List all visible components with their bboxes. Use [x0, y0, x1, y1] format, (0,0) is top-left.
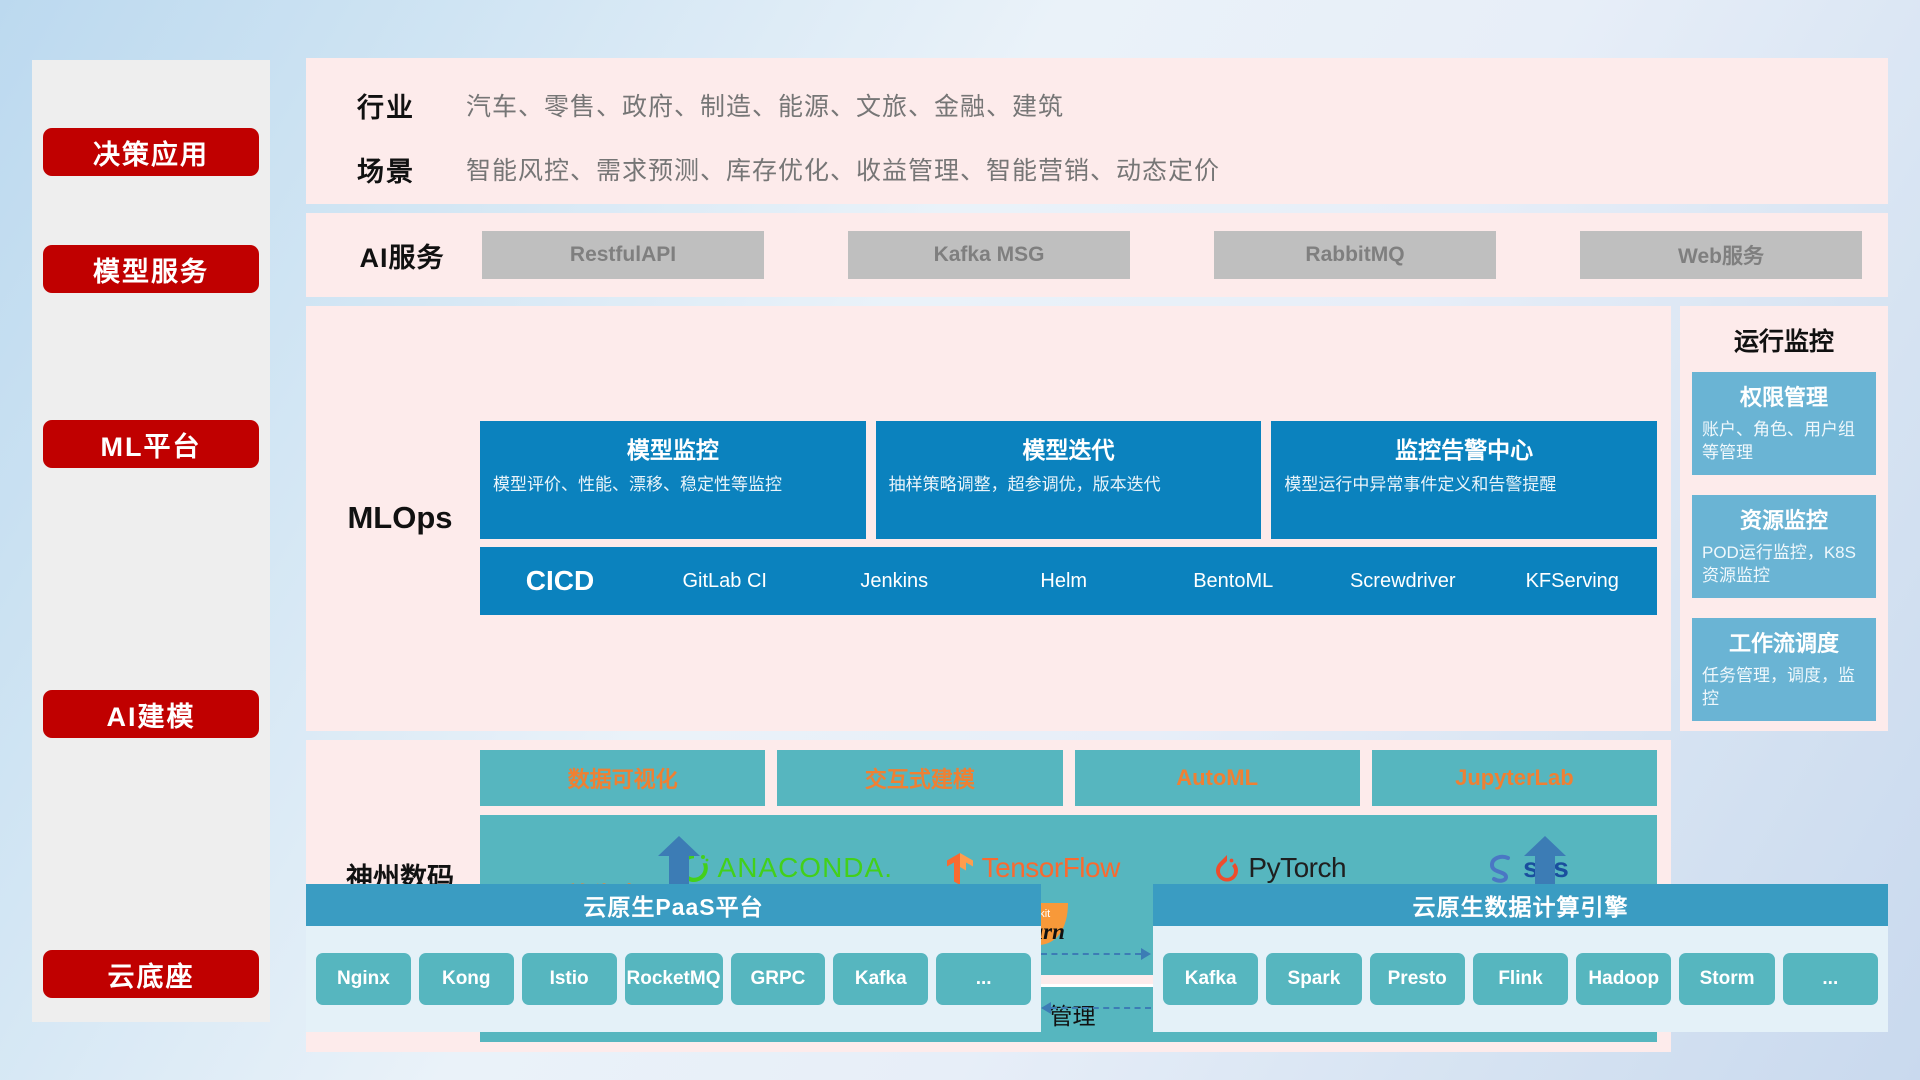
tool-jupyterlab[interactable]: JupyterLab: [1372, 750, 1657, 806]
data-engine-chip-list: Kafka Spark Presto Flink Hadoop Storm ..…: [1153, 926, 1888, 1032]
industry-label: 行业: [306, 86, 466, 125]
paas-chip-istio[interactable]: Istio: [522, 953, 617, 1005]
card-desc: 账户、角色、用户组等管理: [1702, 418, 1866, 465]
scenario-label: 场景: [306, 150, 466, 189]
paas-chip-more[interactable]: ...: [936, 953, 1031, 1005]
service-kafka-msg[interactable]: Kafka MSG: [848, 231, 1130, 279]
cicd-item-bentoml[interactable]: BentoML: [1149, 571, 1319, 592]
paas-chip-kong[interactable]: Kong: [419, 953, 514, 1005]
up-arrow-paas: [658, 836, 700, 884]
paas-chip-grpc[interactable]: GRPC: [731, 953, 826, 1005]
mlops-card-alert-center[interactable]: 监控告警中心 模型运行中异常事件定义和告警提醒: [1271, 421, 1657, 539]
engine-chip-presto[interactable]: Presto: [1370, 953, 1465, 1005]
data-engine-title: 云原生数据计算引擎: [1153, 884, 1888, 926]
card-desc: 模型评价、性能、漂移、稳定性等监控: [493, 473, 853, 497]
cloud-native-paas-panel: 云原生PaaS平台 Nginx Kong Istio RocketMQ GRPC…: [306, 884, 1041, 1032]
engine-chip-flink[interactable]: Flink: [1473, 953, 1568, 1005]
card-desc: 任务管理，调度，监控: [1702, 664, 1866, 711]
tool-interactive-modeling[interactable]: 交互式建模: [777, 750, 1062, 806]
engine-chip-spark[interactable]: Spark: [1266, 953, 1361, 1005]
runtime-monitoring-title: 运行监控: [1692, 322, 1876, 358]
tool-data-visualization[interactable]: 数据可视化: [480, 750, 765, 806]
cicd-item-helm[interactable]: Helm: [979, 571, 1149, 592]
up-arrow-data-engine: [1524, 836, 1566, 884]
rail-chip-model-service[interactable]: 模型服务: [43, 245, 259, 293]
tensorflow-wordmark: TensorFlow: [982, 852, 1120, 884]
engine-chip-more[interactable]: ...: [1783, 953, 1878, 1005]
ai-service-list: RestfulAPI Kafka MSG RabbitMQ Web服务: [482, 231, 1872, 279]
rail-chip-cloud-base[interactable]: 云底座: [43, 950, 259, 998]
cloud-base-section: 云原生PaaS平台 Nginx Kong Istio RocketMQ GRPC…: [306, 884, 1888, 1032]
card-title: 权限管理: [1702, 380, 1866, 412]
mlops-card-model-iteration[interactable]: 模型迭代 抽样策略调整，超参调优，版本迭代: [876, 421, 1262, 539]
logo-pytorch: PyTorch: [1213, 852, 1346, 884]
tensorflow-icon: [945, 851, 975, 885]
ai-service-band: AI服务 RestfulAPI Kafka MSG RabbitMQ Web服务: [306, 213, 1888, 297]
rail-chip-ml-platform[interactable]: ML平台: [43, 420, 259, 468]
cicd-item-screwdriver[interactable]: Screwdriver: [1318, 571, 1488, 592]
service-rabbitmq[interactable]: RabbitMQ: [1214, 231, 1496, 279]
paas-chip-list: Nginx Kong Istio RocketMQ GRPC Kafka ...: [306, 926, 1041, 1032]
card-title: 监控告警中心: [1284, 431, 1644, 465]
engine-chip-storm[interactable]: Storm: [1679, 953, 1774, 1005]
scenario-row: 场景 智能风控、需求预测、库存优化、收益管理、智能营销、动态定价: [306, 144, 1888, 194]
card-desc: POD运行监控，K8S资源监控: [1702, 541, 1866, 588]
cloud-native-data-engine-panel: 云原生数据计算引擎 Kafka Spark Presto Flink Hadoo…: [1153, 884, 1888, 1032]
paas-chip-rocketmq[interactable]: RocketMQ: [625, 953, 723, 1005]
card-desc: 模型运行中异常事件定义和告警提醒: [1284, 473, 1644, 497]
monitor-card-permission[interactable]: 权限管理 账户、角色、用户组等管理: [1692, 372, 1876, 475]
industry-row: 行业 汽车、零售、政府、制造、能源、文旅、金融、建筑: [306, 80, 1888, 130]
card-title: 模型迭代: [889, 431, 1249, 465]
cicd-item-kfserving[interactable]: KFServing: [1488, 571, 1658, 592]
tool-automl[interactable]: AutoML: [1075, 750, 1360, 806]
rail-chip-ai-modeling[interactable]: AI建模: [43, 690, 259, 738]
engine-chip-kafka[interactable]: Kafka: [1163, 953, 1258, 1005]
modeling-tool-list: 数据可视化 交互式建模 AutoML JupyterLab: [480, 750, 1657, 806]
logo-anaconda: ANACONDA.: [677, 851, 893, 885]
pytorch-wordmark: PyTorch: [1248, 852, 1346, 884]
engine-chip-hadoop[interactable]: Hadoop: [1576, 953, 1671, 1005]
logo-tensorflow: TensorFlow: [945, 851, 1120, 885]
monitor-card-resource[interactable]: 资源监控 POD运行监控，K8S资源监控: [1692, 495, 1876, 598]
anaconda-wordmark: ANACONDA.: [718, 852, 893, 884]
cicd-label: CICD: [480, 565, 640, 597]
paas-chip-kafka[interactable]: Kafka: [833, 953, 928, 1005]
runtime-monitoring-panel: 运行监控 权限管理 账户、角色、用户组等管理 资源监控 POD运行监控，K8S资…: [1680, 306, 1888, 731]
ai-service-label: AI服务: [322, 236, 482, 275]
monitor-card-workflow[interactable]: 工作流调度 任务管理，调度，监控: [1692, 618, 1876, 721]
service-restfulapi[interactable]: RestfulAPI: [482, 231, 764, 279]
industry-values: 汽车、零售、政府、制造、能源、文旅、金融、建筑: [466, 87, 1064, 123]
service-web[interactable]: Web服务: [1580, 231, 1862, 279]
cicd-item-gitlab-ci[interactable]: GitLab CI: [640, 571, 810, 592]
mlops-band: MLOps 模型监控 模型评价、性能、漂移、稳定性等监控 模型迭代 抽样策略调整…: [306, 306, 1671, 731]
mlops-card-list: 模型监控 模型评价、性能、漂移、稳定性等监控 模型迭代 抽样策略调整，超参调优，…: [480, 421, 1657, 539]
cicd-bar: CICD GitLab CI Jenkins Helm BentoML Scre…: [480, 547, 1657, 615]
rail-chip-decision[interactable]: 决策应用: [43, 128, 259, 176]
card-title: 工作流调度: [1702, 626, 1866, 658]
cicd-item-jenkins[interactable]: Jenkins: [810, 571, 980, 592]
layer-rail: 决策应用 模型服务 ML平台 AI建模 云底座: [32, 60, 270, 1022]
sas-icon: [1486, 852, 1516, 884]
mlops-card-model-monitoring[interactable]: 模型监控 模型评价、性能、漂移、稳定性等监控: [480, 421, 866, 539]
paas-title: 云原生PaaS平台: [306, 884, 1041, 926]
mlops-label: MLOps: [320, 500, 480, 536]
pytorch-icon: [1213, 852, 1241, 884]
paas-chip-nginx[interactable]: Nginx: [316, 953, 411, 1005]
card-desc: 抽样策略调整，超参调优，版本迭代: [889, 473, 1249, 497]
decision-application-band: 行业 汽车、零售、政府、制造、能源、文旅、金融、建筑 场景 智能风控、需求预测、…: [306, 58, 1888, 204]
card-title: 资源监控: [1702, 503, 1866, 535]
card-title: 模型监控: [493, 431, 853, 465]
scenario-values: 智能风控、需求预测、库存优化、收益管理、智能营销、动态定价: [466, 151, 1220, 187]
